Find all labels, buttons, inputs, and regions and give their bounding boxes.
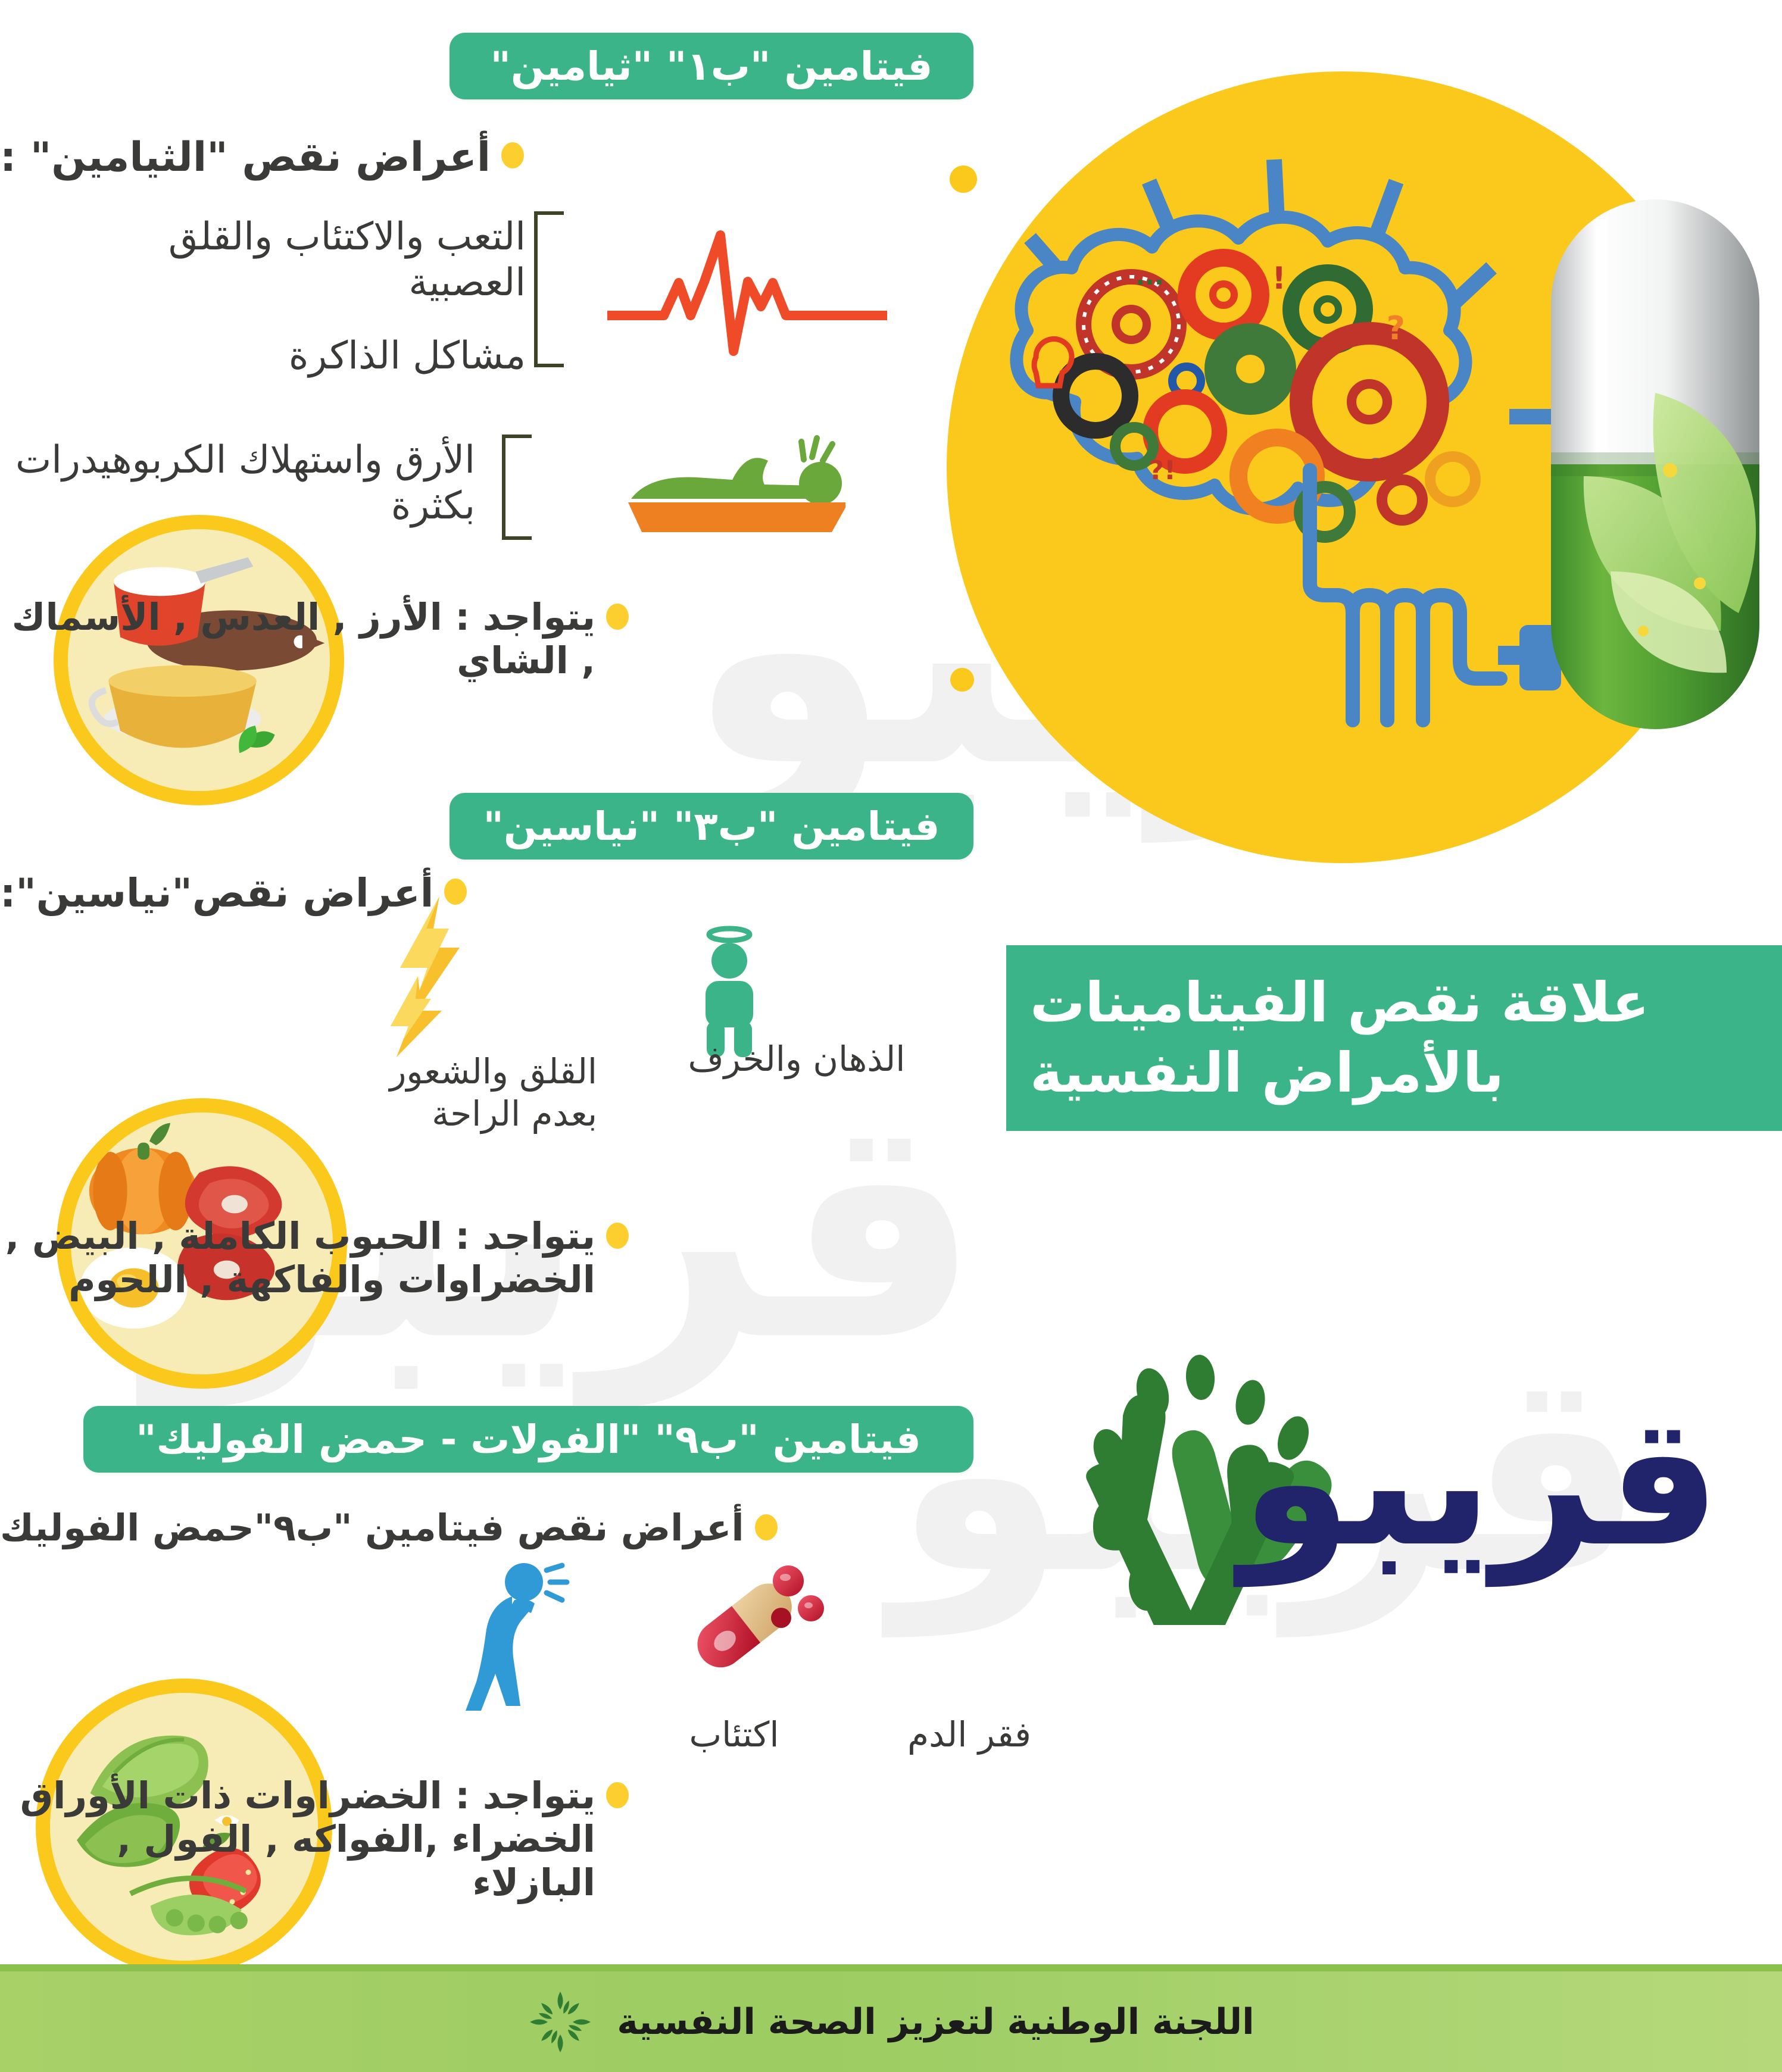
ecg-line-icon [607,211,887,366]
symptom-b1-insomnia: الأرق واستهلاك الكربوهيدرات بكثرة [0,437,475,529]
bullet-dot-icon [755,1514,778,1540]
blood-cells-icon [655,1548,828,1702]
svg-text:!: ! [1272,261,1286,296]
infographic-canvas: قريبو قريبو قريبو [0,0,1782,2072]
bracket-connector-2 [502,435,532,540]
bullet-dot-icon [606,1782,629,1808]
symptom-b9-anemia: فقر الدم [871,1714,1068,1756]
svg-text:?: ? [1387,310,1405,347]
bed-icon [595,429,845,542]
page-title: علاقة نقص الفيتامينات بالأمراض النفسية [1006,945,1782,1131]
bullet-b1-food-text: يتواجد : الأرز , العدس , الأسماك , الشاي [0,595,595,682]
logo-brand-text: قريبو [1268,1393,1721,1595]
symptom-b1-memory: مشاكل الذاكرة [109,333,526,379]
footer-text: اللجنة الوطنية لتعزيز الصحة النفسية [617,2001,1254,2043]
bullet-b3-food-sources: يتواجد : الحبوب الكاملة , البيض , الخضرا… [0,1214,976,1301]
symptom-b3-dementia: الذهان والخرف [672,1039,922,1080]
saudi-health-star-icon [528,1989,593,2055]
symptom-b1-fatigue: التعب والاكتئاب والقلق العصبية [109,214,526,306]
bullet-dot-icon [606,1223,629,1249]
bullet-b1-food-sources: يتواجد : الأرز , العدس , الأسماك , الشاي [0,595,976,682]
footer-bar: اللجنة الوطنية لتعزيز الصحة النفسية [0,1971,1782,2072]
bullet-b1-symptoms: أعراض نقص "الثيامين" : [0,134,976,182]
bullet-dot-icon [501,142,524,168]
bullet-dot-icon [606,604,629,630]
svg-text:...: ... [1135,261,1164,290]
bullet-b1-symptoms-text: أعراض نقص "الثيامين" : [0,134,491,182]
brain-gears-capsule-icon: ... ! ? !? [953,60,1782,887]
bullet-b9-symptoms: أعراض نقص فيتامين "ب٩"حمض الفوليك [0,1506,976,1549]
lightning-bolt-icon [369,893,500,1060]
bullet-b3-food-text: يتواجد : الحبوب الكاملة , البيض , الخضرا… [0,1214,595,1301]
bracket-connector-1 [534,211,564,367]
bullet-b9-food-sources: يتواجد : الخضراوات ذات الأوراق الخضراء ,… [0,1774,976,1904]
svg-text:!?: !? [1149,455,1176,486]
page-title-line-2: بالأمراض النفسية [1030,1038,1504,1108]
page-title-line-1: علاقة نقص الفيتامينات [1030,968,1649,1038]
slumped-person-icon [452,1554,572,1714]
person-halo-icon [676,921,783,1058]
bullet-b9-symptoms-text: أعراض نقص فيتامين "ب٩"حمض الفوليك [0,1506,744,1549]
section-header-b3: فيتامين "ب٣" "نياسين" [450,793,973,860]
symptom-b3-anxiety: القلق والشعور بعدم الراحة [317,1051,597,1135]
symptom-b9-depression: اكتئاب [645,1714,823,1756]
section-header-b1: فيتامين "ب١" "ثيامين" [450,33,973,99]
section-header-b9: فيتامين "ب٩" "الفولات - حمض الفوليك" [83,1406,973,1473]
bullet-b9-food-text: يتواجد : الخضراوات ذات الأوراق الخضراء ,… [0,1774,595,1904]
